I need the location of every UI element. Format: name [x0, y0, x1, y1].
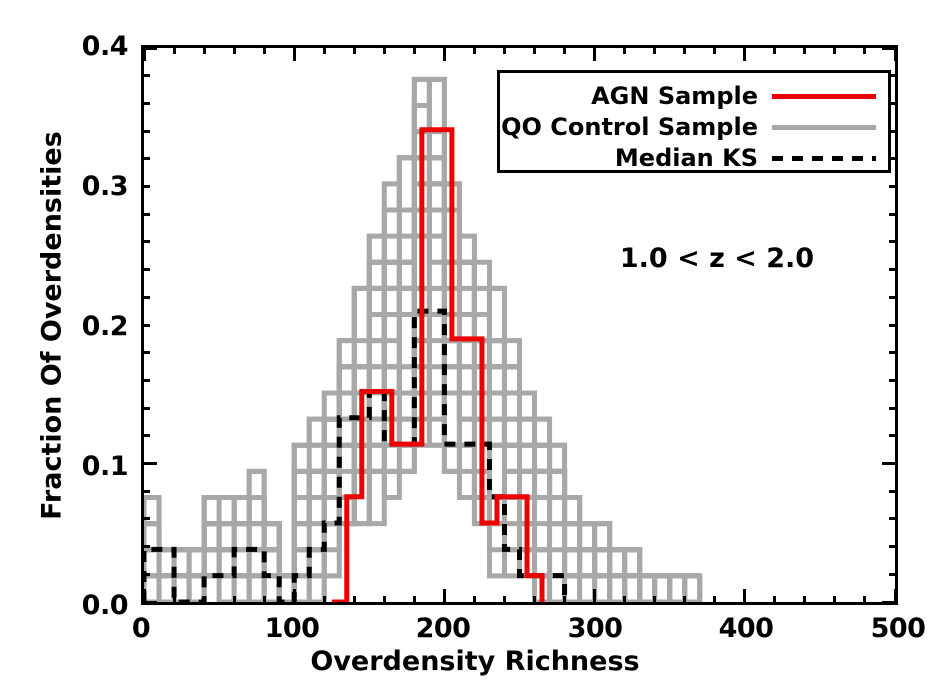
tick-top — [383, 45, 386, 54]
tick-right — [889, 379, 898, 382]
tick-bottom — [713, 596, 716, 605]
tick-right — [889, 545, 898, 548]
tick-right — [889, 573, 898, 576]
legend-box: AGN Sample QO Control Sample Median KS — [497, 70, 891, 173]
tick-right — [889, 213, 898, 216]
tick-left — [141, 379, 150, 382]
tick-top — [833, 45, 836, 54]
tick-left — [141, 601, 157, 604]
x-tick-label-500: 500 — [858, 613, 938, 644]
tick-bottom — [653, 596, 656, 605]
x-tick-label-400: 400 — [706, 613, 786, 644]
tick-bottom — [533, 596, 536, 605]
tick-right — [882, 462, 898, 465]
tick-bottom — [353, 596, 356, 605]
x-tick-label-0: 0 — [101, 613, 181, 644]
tick-top — [653, 45, 656, 54]
tick-left — [141, 130, 150, 133]
tick-top — [683, 45, 686, 54]
tick-top — [623, 45, 626, 54]
tick-top — [353, 45, 356, 54]
tick-left — [141, 573, 150, 576]
tick-right — [889, 240, 898, 243]
legend-swatch-agn-line — [772, 94, 876, 99]
tick-left — [141, 434, 150, 437]
tick-bottom — [743, 589, 746, 605]
tick-left — [141, 102, 150, 105]
tick-top — [173, 45, 176, 54]
tick-left — [141, 296, 150, 299]
legend-swatch-control-line — [772, 125, 876, 130]
tick-bottom — [683, 596, 686, 605]
tick-top — [293, 45, 296, 61]
tick-left — [141, 157, 150, 160]
legend-row-control: QO Control Sample — [500, 111, 888, 141]
tick-right — [882, 601, 898, 604]
legend-label-median: Median KS — [500, 144, 758, 172]
tick-left — [141, 213, 150, 216]
y-tick-label-0.4: 0.4 — [24, 31, 128, 62]
tick-top — [533, 45, 536, 54]
tick-left — [141, 47, 157, 50]
x-axis-title: Overdensity Richness — [0, 646, 950, 677]
tick-left — [141, 185, 150, 188]
tick-bottom — [263, 596, 266, 605]
tick-bottom — [473, 596, 476, 605]
tick-top — [203, 45, 206, 54]
y-tick-label-0.2: 0.2 — [24, 311, 128, 342]
tick-right — [889, 296, 898, 299]
tick-bottom — [833, 596, 836, 605]
tick-top — [323, 45, 326, 54]
tick-right — [889, 490, 898, 493]
tick-right — [889, 268, 898, 271]
legend-swatch-median-dashed — [772, 156, 876, 161]
tick-bottom — [173, 596, 176, 605]
x-tick-label-200: 200 — [403, 613, 483, 644]
y-tick-label-0.1: 0.1 — [24, 451, 128, 482]
tick-bottom — [863, 596, 866, 605]
y-tick-label-0.3: 0.3 — [24, 171, 128, 202]
tick-top — [863, 45, 866, 54]
tick-bottom — [383, 596, 386, 605]
tick-bottom — [563, 596, 566, 605]
tick-top — [773, 45, 776, 54]
tick-bottom — [323, 596, 326, 605]
tick-left — [141, 268, 150, 271]
tick-top — [713, 45, 716, 54]
tick-top — [593, 45, 596, 61]
tick-top — [413, 45, 416, 54]
tick-left — [141, 324, 150, 327]
tick-left — [141, 462, 157, 465]
legend-label-control: QO Control Sample — [500, 113, 758, 141]
tick-right — [889, 407, 898, 410]
tick-left — [141, 545, 150, 548]
tick-right — [882, 47, 898, 50]
tick-bottom — [203, 596, 206, 605]
tick-top — [473, 45, 476, 54]
tick-top — [803, 45, 806, 54]
tick-top — [743, 45, 746, 61]
tick-bottom — [593, 589, 596, 605]
redshift-range-annotation: 1.0 < z < 2.0 — [592, 243, 842, 274]
tick-bottom — [413, 596, 416, 605]
tick-left — [141, 490, 150, 493]
tick-left — [141, 351, 150, 354]
tick-bottom — [293, 589, 296, 605]
tick-right — [889, 434, 898, 437]
x-tick-label-100: 100 — [252, 613, 332, 644]
tick-left — [141, 240, 150, 243]
tick-bottom — [503, 596, 506, 605]
tick-top — [233, 45, 236, 54]
tick-right — [889, 185, 898, 188]
tick-bottom — [623, 596, 626, 605]
tick-right — [889, 517, 898, 520]
tick-top — [563, 45, 566, 54]
x-tick-label-300: 300 — [555, 613, 635, 644]
legend-row-median: Median KS — [500, 142, 888, 172]
legend-label-agn: AGN Sample — [500, 82, 758, 110]
legend-row-agn: AGN Sample — [500, 80, 888, 110]
tick-right — [889, 324, 898, 327]
tick-top — [443, 45, 446, 61]
tick-top — [503, 45, 506, 54]
tick-right — [889, 351, 898, 354]
tick-left — [141, 74, 150, 77]
tick-left — [141, 517, 150, 520]
tick-bottom — [443, 589, 446, 605]
tick-bottom — [773, 596, 776, 605]
tick-bottom — [803, 596, 806, 605]
tick-left — [141, 407, 150, 410]
tick-bottom — [233, 596, 236, 605]
tick-top — [263, 45, 266, 54]
